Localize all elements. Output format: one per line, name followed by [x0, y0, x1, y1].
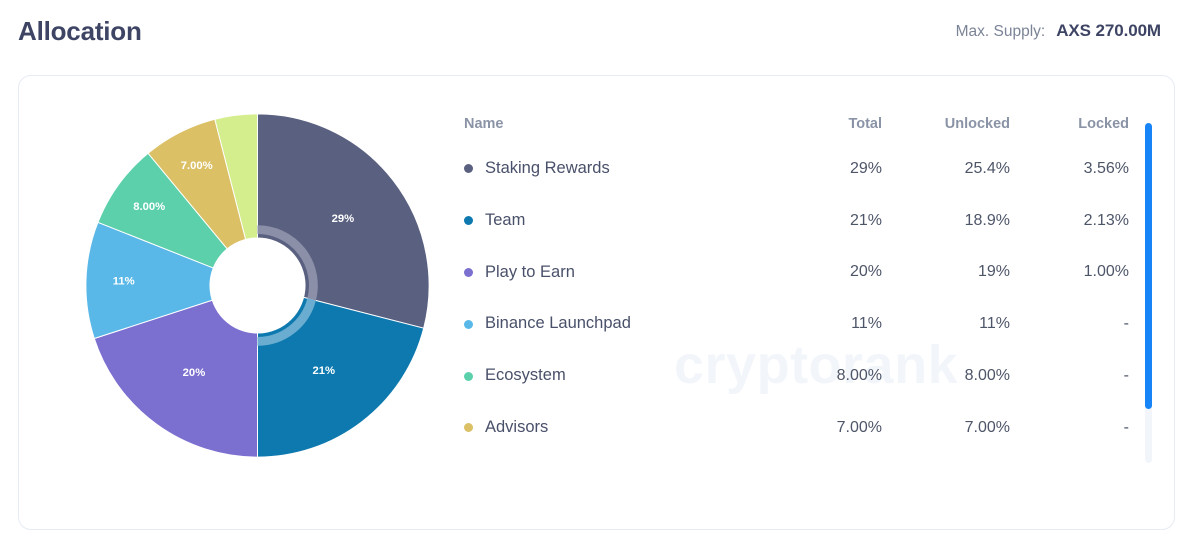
table-row[interactable]: Team21%18.9%2.13% — [464, 195, 1129, 247]
donut-slice-label: 29% — [332, 213, 355, 225]
legend-dot-icon — [464, 164, 473, 173]
table-row[interactable]: Advisors7.00%7.00%- — [464, 402, 1129, 454]
allocation-name-label: Binance Launchpad — [485, 314, 631, 334]
cell-unlocked: 19% — [882, 247, 1010, 299]
cell-total: 29% — [764, 143, 882, 195]
cell-total: 11% — [764, 298, 882, 350]
cell-locked: - — [1010, 298, 1129, 350]
cell-locked: 3.56% — [1010, 143, 1129, 195]
legend-dot-icon — [464, 216, 473, 225]
column-header-locked[interactable]: Locked — [1010, 116, 1129, 143]
allocation-chart-pane: 29%21%20%11%8.00%7.00% — [19, 76, 464, 529]
max-supply-block: Max. Supply: AXS 270.00M — [956, 21, 1161, 41]
donut-slice-label: 20% — [183, 367, 206, 379]
cell-total: 8.00% — [764, 350, 882, 402]
allocation-name-label: Staking Rewards — [485, 159, 610, 179]
allocation-page: Allocation Max. Supply: AXS 270.00M cryp… — [0, 0, 1193, 553]
page-title: Allocation — [18, 18, 142, 44]
allocation-name-label: Play to Earn — [485, 263, 575, 283]
cell-total: 7.00% — [764, 402, 882, 454]
cell-unlocked: 25.4% — [882, 143, 1010, 195]
legend-dot-icon — [464, 372, 473, 381]
cell-name: Team — [464, 195, 764, 247]
max-supply-value: AXS 270.00M — [1056, 21, 1161, 41]
table-header-row: Name Total Unlocked Locked — [464, 116, 1129, 143]
allocation-name-label: Advisors — [485, 418, 548, 438]
donut-slice-label: 7.00% — [181, 160, 213, 172]
table-row[interactable]: Staking Rewards29%25.4%3.56% — [464, 143, 1129, 195]
donut-slice-label: 21% — [312, 365, 335, 377]
cell-name: Staking Rewards — [464, 143, 764, 195]
allocation-table-body: Staking Rewards29%25.4%3.56%Team21%18.9%… — [464, 143, 1129, 454]
donut-slice-label: 8.00% — [133, 201, 165, 213]
donut-slice-label: 11% — [113, 275, 135, 287]
allocation-name-label: Ecosystem — [485, 366, 566, 386]
table-scrollbar-thumb[interactable] — [1145, 123, 1152, 409]
page-header: Allocation Max. Supply: AXS 270.00M — [0, 0, 1193, 62]
cell-locked: - — [1010, 402, 1129, 454]
cell-unlocked: 7.00% — [882, 402, 1010, 454]
column-header-total[interactable]: Total — [764, 116, 882, 143]
allocation-name-label: Team — [485, 211, 525, 231]
cell-name: Ecosystem — [464, 350, 764, 402]
cell-unlocked: 8.00% — [882, 350, 1010, 402]
table-row[interactable]: Ecosystem8.00%8.00%- — [464, 350, 1129, 402]
column-header-unlocked[interactable]: Unlocked — [882, 116, 1010, 143]
legend-dot-icon — [464, 268, 473, 277]
allocation-card: cryptorank 29%21%20%11%8.00%7.00% — [18, 75, 1175, 530]
allocation-table-pane: Name Total Unlocked Locked Staking Rewar… — [464, 76, 1174, 529]
column-header-name[interactable]: Name — [464, 116, 764, 143]
cell-unlocked: 18.9% — [882, 195, 1010, 247]
donut-hole — [209, 237, 305, 333]
table-scrollbar-track[interactable] — [1145, 123, 1152, 463]
legend-dot-icon — [464, 320, 473, 329]
cell-total: 20% — [764, 247, 882, 299]
cell-name: Binance Launchpad — [464, 298, 764, 350]
cell-locked: 2.13% — [1010, 195, 1129, 247]
table-row[interactable]: Binance Launchpad11%11%- — [464, 298, 1129, 350]
cell-total: 21% — [764, 195, 882, 247]
cell-unlocked: 11% — [882, 298, 1010, 350]
cell-name: Advisors — [464, 402, 764, 454]
cell-locked: 1.00% — [1010, 247, 1129, 299]
table-row[interactable]: Play to Earn20%19%1.00% — [464, 247, 1129, 299]
allocation-table: Name Total Unlocked Locked Staking Rewar… — [464, 116, 1129, 454]
cell-locked: - — [1010, 350, 1129, 402]
allocation-donut-chart[interactable]: 29%21%20%11%8.00%7.00% — [81, 109, 434, 462]
legend-dot-icon — [464, 423, 473, 432]
max-supply-label: Max. Supply: — [956, 23, 1046, 41]
cell-name: Play to Earn — [464, 247, 764, 299]
